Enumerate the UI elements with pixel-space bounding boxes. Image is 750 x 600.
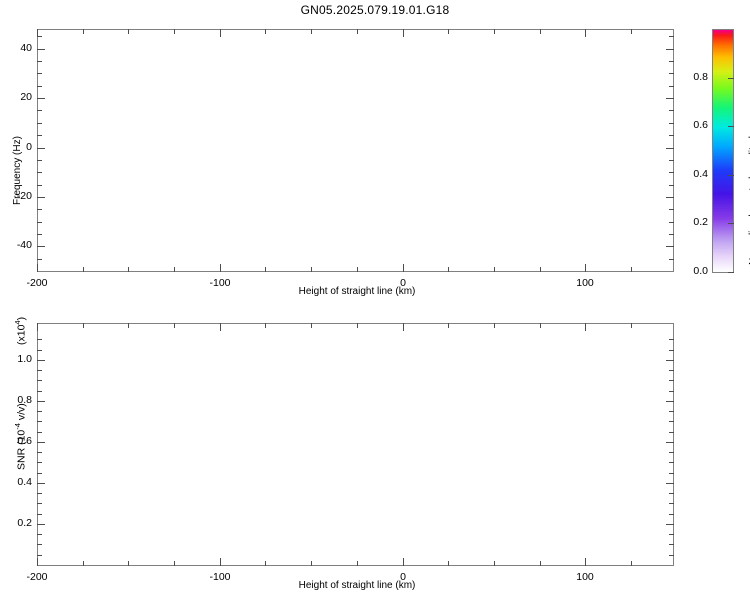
axis-tick: [128, 323, 129, 328]
axis-tick: [669, 452, 674, 453]
axis-tick: [669, 185, 674, 186]
axis-tick: [631, 561, 632, 566]
axis-tick: [37, 61, 42, 62]
axis-tick: [220, 29, 221, 37]
axis-tick: [311, 561, 312, 566]
axis-tick: [37, 323, 38, 331]
axis-tick: [666, 524, 674, 525]
snr-yaxis-label-prefix: SNR (10: [16, 430, 28, 470]
axis-tick: [265, 267, 266, 272]
axis-tick: [669, 209, 674, 210]
colorbar-tick: [728, 78, 734, 79]
axis-tick: [448, 561, 449, 566]
snr-axes-frame: [37, 323, 674, 566]
axis-tick: [37, 391, 42, 392]
axis-tick: [83, 561, 84, 566]
axis-tick: [669, 135, 674, 136]
axis-tick: [669, 503, 674, 504]
axis-tick: [669, 462, 674, 463]
axis-tick: [448, 267, 449, 272]
axis-tick: [494, 561, 495, 566]
axis-tick: [585, 323, 586, 331]
axis-tick: [37, 442, 45, 443]
axis-tick: [37, 86, 42, 87]
axis-tick: [669, 36, 674, 37]
axis-tick: [669, 411, 674, 412]
axis-tick: [174, 29, 175, 34]
axis-tick-label: 0.2: [0, 517, 32, 529]
axis-tick: [37, 558, 38, 566]
axis-tick: [265, 29, 266, 34]
axis-tick: [448, 29, 449, 34]
axis-tick: [357, 29, 358, 34]
axis-tick: [37, 514, 42, 515]
snr-multiplier-suffix: ): [16, 317, 28, 321]
snr-yaxis-multiplier: (x104): [13, 317, 28, 345]
axis-tick: [669, 544, 674, 545]
colorbar-tick-label: 0.6: [678, 119, 708, 131]
snr-multiplier-prefix: (x10: [16, 325, 28, 345]
axis-tick: [357, 267, 358, 272]
axis-tick: [669, 473, 674, 474]
axis-tick-label: 1.0: [0, 353, 32, 365]
axis-tick: [37, 259, 42, 260]
axis-tick-label: -40: [0, 239, 32, 251]
axis-tick: [37, 98, 45, 99]
axis-tick: [37, 234, 42, 235]
axis-tick: [37, 462, 42, 463]
axis-tick: [37, 411, 42, 412]
axis-tick: [666, 98, 674, 99]
colorbar-tick-label: 0.2: [678, 216, 708, 228]
axis-tick: [128, 29, 129, 34]
axis-tick: [669, 421, 674, 422]
colorbar-frame: [712, 29, 734, 273]
axis-tick: [37, 339, 42, 340]
axis-tick: [37, 148, 45, 149]
colorbar-tick-label: 0.4: [678, 168, 708, 180]
colorbar-tick: [728, 175, 734, 176]
axis-tick: [669, 234, 674, 235]
axis-tick: [669, 370, 674, 371]
axis-tick: [357, 323, 358, 328]
axis-tick: [37, 123, 42, 124]
axis-tick-label: 20: [0, 91, 32, 103]
axis-tick-label: 0.4: [0, 476, 32, 488]
axis-tick: [666, 197, 674, 198]
axis-tick: [37, 36, 42, 37]
axis-tick: [37, 432, 42, 433]
axis-tick: [631, 29, 632, 34]
axis-tick: [585, 29, 586, 37]
snr-multiplier-exponent: 4: [13, 320, 22, 324]
axis-tick: [311, 29, 312, 34]
axis-tick: [37, 493, 42, 494]
axis-tick: [403, 264, 404, 272]
axis-tick: [37, 160, 42, 161]
axis-tick: [669, 493, 674, 494]
axis-tick: [174, 561, 175, 566]
axis-tick-label: 40: [0, 42, 32, 54]
axis-tick: [669, 350, 674, 351]
axis-tick: [37, 73, 42, 74]
axis-tick: [494, 267, 495, 272]
axis-tick: [669, 514, 674, 515]
axis-tick: [37, 209, 42, 210]
axis-tick: [403, 29, 404, 37]
axis-tick: [37, 264, 38, 272]
axis-tick: [37, 534, 42, 535]
axis-tick-label: -100: [200, 277, 240, 289]
axis-tick: [448, 323, 449, 328]
snr-yaxis-label-exponent: -4: [13, 423, 22, 430]
axis-tick: [37, 360, 45, 361]
axis-tick-label: 100: [565, 571, 605, 583]
axis-tick: [37, 49, 45, 50]
axis-tick: [311, 267, 312, 272]
axis-tick: [37, 197, 45, 198]
axis-tick: [265, 561, 266, 566]
axis-tick-label: -200: [17, 571, 57, 583]
axis-tick: [669, 61, 674, 62]
axis-tick: [37, 135, 42, 136]
axis-tick: [174, 267, 175, 272]
axis-tick-label: -200: [17, 277, 57, 289]
axis-tick: [37, 370, 42, 371]
axis-tick: [37, 421, 42, 422]
axis-tick: [357, 561, 358, 566]
axis-tick-label: 100: [565, 277, 605, 289]
axis-tick: [37, 172, 42, 173]
axis-tick: [669, 123, 674, 124]
axis-tick: [631, 267, 632, 272]
colorbar-tick: [728, 223, 734, 224]
axis-tick: [37, 483, 45, 484]
axis-tick: [37, 555, 42, 556]
axis-tick: [669, 555, 674, 556]
axis-tick: [37, 110, 42, 111]
snr-xaxis-label: Height of straight line (km): [237, 580, 477, 591]
axis-tick: [540, 29, 541, 34]
axis-tick: [220, 558, 221, 566]
axis-tick: [666, 148, 674, 149]
axis-tick: [128, 267, 129, 272]
axis-tick: [128, 561, 129, 566]
axis-tick: [669, 259, 674, 260]
axis-tick: [669, 73, 674, 74]
axis-tick-label: -100: [200, 571, 240, 583]
colorbar-tick-label: 0.8: [678, 71, 708, 83]
axis-tick: [174, 323, 175, 328]
axis-tick: [220, 264, 221, 272]
axis-tick: [494, 323, 495, 328]
axis-tick: [265, 323, 266, 328]
axis-tick: [37, 503, 42, 504]
colorbar-tick: [728, 126, 734, 127]
axis-tick: [669, 110, 674, 111]
snr-yaxis-label: SNR (10-4 v/v): [13, 403, 28, 470]
axis-tick: [540, 267, 541, 272]
axis-tick: [669, 339, 674, 340]
axis-tick: [666, 483, 674, 484]
axis-tick: [37, 524, 45, 525]
axis-tick: [37, 185, 42, 186]
colorbar-tick: [728, 272, 734, 273]
axis-tick: [83, 323, 84, 328]
figure: GN05.2025.079.19.01.G18 -200-1000100-40-…: [0, 0, 750, 600]
axis-tick: [669, 534, 674, 535]
figure-title: GN05.2025.079.19.01.G18: [0, 3, 750, 17]
axis-tick: [220, 323, 221, 331]
axis-tick: [669, 380, 674, 381]
spectrogram-axes-frame: [37, 29, 674, 272]
axis-tick: [669, 222, 674, 223]
axis-tick: [666, 442, 674, 443]
axis-tick: [669, 391, 674, 392]
axis-tick: [666, 246, 674, 247]
axis-tick: [37, 350, 42, 351]
axis-tick: [403, 323, 404, 331]
axis-tick: [311, 323, 312, 328]
axis-tick: [585, 558, 586, 566]
spectrogram-yaxis-label: Frequency (Hz): [12, 136, 23, 205]
axis-tick: [666, 360, 674, 361]
axis-tick: [37, 452, 42, 453]
axis-tick: [669, 86, 674, 87]
axis-tick: [666, 49, 674, 50]
axis-tick: [585, 264, 586, 272]
axis-tick: [37, 380, 42, 381]
axis-tick: [403, 558, 404, 566]
axis-tick: [37, 544, 42, 545]
snr-yaxis-label-suffix: v/v): [16, 403, 28, 423]
axis-tick: [666, 401, 674, 402]
axis-tick: [669, 160, 674, 161]
axis-tick: [540, 561, 541, 566]
axis-tick: [37, 473, 42, 474]
axis-tick: [631, 323, 632, 328]
axis-tick: [540, 323, 541, 328]
axis-tick: [37, 246, 45, 247]
axis-tick: [669, 172, 674, 173]
axis-tick: [494, 29, 495, 34]
spectrogram-xaxis-label: Height of straight line (km): [237, 286, 477, 297]
axis-tick: [669, 432, 674, 433]
axis-tick: [83, 29, 84, 34]
colorbar-tick-label: 0.0: [678, 265, 708, 277]
axis-tick: [37, 222, 42, 223]
axis-tick: [37, 401, 45, 402]
axis-tick: [83, 267, 84, 272]
